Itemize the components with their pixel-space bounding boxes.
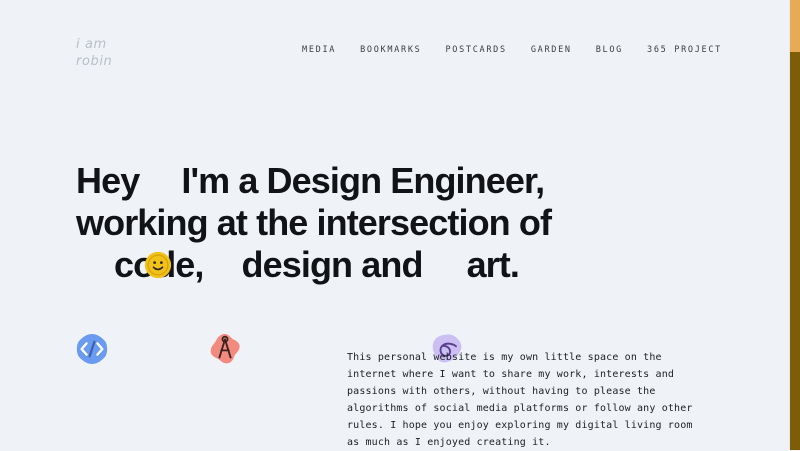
nav-item-postcards[interactable]: POSTCARDS [445, 44, 506, 56]
hero-line-1: Hey I'm a Design Engineer, [76, 160, 696, 202]
hero-text-hey: Hey [76, 160, 139, 202]
main-nav: MEDIA BOOKMARKS POSTCARDS GARDEN BLOG 36… [302, 44, 722, 56]
art-swirl-emoji [429, 247, 465, 283]
nav-item-bookmarks[interactable]: BOOKMARKS [360, 44, 421, 56]
hero-heading: Hey I'm a Design Engineer, working at th… [76, 160, 696, 286]
nav-item-media[interactable]: MEDIA [302, 44, 336, 56]
logo-line-1: i am [76, 36, 112, 53]
nav-item-garden[interactable]: GARDEN [531, 44, 572, 56]
scrollbar-thumb[interactable] [790, 0, 800, 52]
logo-line-2: robin [76, 53, 112, 70]
design-figure-emoji [208, 248, 242, 282]
code-brackets-emoji [74, 247, 110, 283]
site-logo[interactable]: i am robin [76, 36, 112, 70]
nav-item-365-project[interactable]: 365 PROJECT [647, 44, 722, 56]
slightly-smiling-face-emoji [143, 166, 173, 196]
page-scrollbar[interactable] [789, 0, 800, 450]
nav-item-blog[interactable]: BLOG [596, 44, 623, 56]
hero-text-design-engineer: I'm a Design Engineer, [181, 160, 544, 202]
intro-paragraph: This personal website is my own little s… [347, 349, 707, 451]
page-root: i am robin MEDIA BOOKMARKS POSTCARDS GAR… [0, 0, 800, 450]
hero-text-design-and: design and [242, 244, 423, 286]
site-header: i am robin MEDIA BOOKMARKS POSTCARDS GAR… [0, 0, 790, 100]
hero-text-art: art. [467, 244, 519, 286]
